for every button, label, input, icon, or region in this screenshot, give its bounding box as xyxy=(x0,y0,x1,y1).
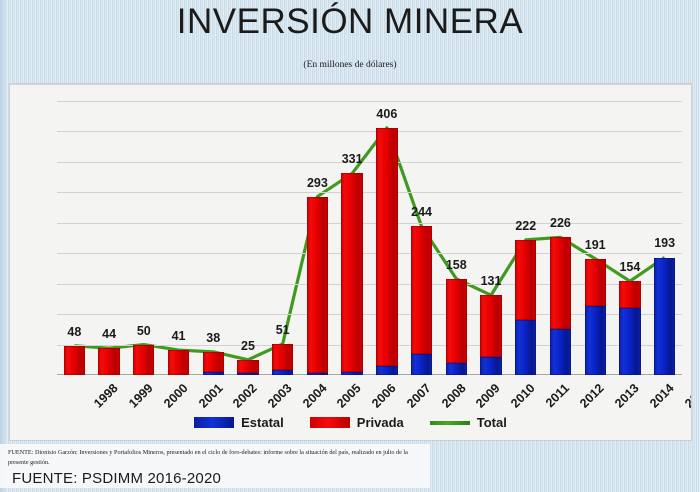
bar-segment-privada[interactable] xyxy=(168,350,189,375)
bar-segment-estatal[interactable] xyxy=(411,354,432,375)
left-edge-stripe xyxy=(0,0,7,492)
footnote-text: FUENTE: Dionisio Garzón: Inversiones y P… xyxy=(8,448,408,467)
bar-segment-privada[interactable] xyxy=(133,345,154,375)
page-subtitle: (En millones de dólares) xyxy=(0,60,700,70)
bar-segment-privada[interactable] xyxy=(480,295,501,356)
bar-2012[interactable] xyxy=(550,237,571,375)
data-label-2014: 154 xyxy=(608,260,652,274)
bar-segment-estatal[interactable] xyxy=(446,363,467,375)
source-label: FUENTE: PSDIMM 2016-2020 xyxy=(12,470,221,487)
x-axis-label-2013: 2013 xyxy=(612,381,642,411)
bar-segment-estatal[interactable] xyxy=(376,366,397,375)
bar-2004[interactable] xyxy=(272,344,293,375)
legend-line-icon xyxy=(430,421,470,425)
bar-segment-estatal[interactable] xyxy=(203,372,224,375)
x-axis-label-2015: 2015 xyxy=(682,381,691,411)
x-axis-label-2004: 2004 xyxy=(300,381,330,411)
data-label-2006: 331 xyxy=(330,152,374,166)
legend-swatch-icon xyxy=(194,417,234,428)
data-label-2013: 191 xyxy=(573,238,617,252)
data-label-2007: 406 xyxy=(365,107,409,121)
legend-label: Total xyxy=(477,415,507,430)
x-axis-label-2008: 2008 xyxy=(439,381,469,411)
bar-1998[interactable] xyxy=(64,346,85,375)
bar-2010[interactable] xyxy=(480,295,501,375)
legend-label: Estatal xyxy=(241,415,284,430)
gridline xyxy=(57,101,682,102)
bar-segment-privada[interactable] xyxy=(203,352,224,372)
legend-label: Privada xyxy=(357,415,404,430)
bar-segment-estatal[interactable] xyxy=(480,357,501,375)
bar-segment-privada[interactable] xyxy=(376,128,397,367)
legend-swatch-icon xyxy=(310,417,350,428)
bar-segment-estatal[interactable] xyxy=(272,370,293,375)
data-label-2010: 131 xyxy=(469,274,513,288)
bar-segment-privada[interactable] xyxy=(237,360,258,373)
gridline xyxy=(57,253,682,254)
bar-segment-estatal[interactable] xyxy=(550,329,571,375)
bar-2003[interactable] xyxy=(237,360,258,375)
data-label-2012: 226 xyxy=(538,216,582,230)
bar-segment-estatal[interactable] xyxy=(341,372,362,375)
bar-segment-privada[interactable] xyxy=(446,279,467,363)
bar-segment-privada[interactable] xyxy=(515,240,536,320)
legend-item-estatal[interactable]: Estatal xyxy=(194,415,284,430)
x-axis-label-1999: 1999 xyxy=(126,381,156,411)
bar-segment-privada[interactable] xyxy=(411,226,432,353)
x-axis-label-2007: 2007 xyxy=(404,381,434,411)
gridline xyxy=(57,223,682,224)
x-axis-label-1998: 1998 xyxy=(92,381,122,411)
bar-2011[interactable] xyxy=(515,240,536,375)
bar-2015[interactable] xyxy=(654,258,675,376)
x-axis-label-2006: 2006 xyxy=(369,381,399,411)
bar-2000[interactable] xyxy=(133,345,154,375)
x-axis-label-2011: 2011 xyxy=(543,381,572,410)
bar-2005[interactable] xyxy=(307,197,328,375)
data-label-2004: 51 xyxy=(261,323,305,337)
x-axis-label-2001: 2001 xyxy=(196,381,226,411)
bar-segment-privada[interactable] xyxy=(307,197,328,373)
bar-2013[interactable] xyxy=(585,259,606,375)
bar-segment-privada[interactable] xyxy=(98,348,119,375)
data-label-2015: 193 xyxy=(643,236,687,250)
x-axis-label-2010: 2010 xyxy=(508,381,538,411)
bar-2009[interactable] xyxy=(446,279,467,375)
page-title: INVERSIÓN MINERA xyxy=(0,2,700,42)
slide-canvas: INVERSIÓN MINERA (En millones de dólares… xyxy=(0,0,700,492)
x-axis-label-2005: 2005 xyxy=(335,381,365,411)
chart-legend: EstatalPrivadaTotal xyxy=(10,415,691,430)
bar-segment-estatal[interactable] xyxy=(307,373,328,375)
data-label-2008: 244 xyxy=(400,205,444,219)
x-axis-label-2012: 2012 xyxy=(578,381,608,411)
bar-segment-privada[interactable] xyxy=(272,344,293,370)
bar-segment-privada[interactable] xyxy=(550,237,571,329)
legend-item-total[interactable]: Total xyxy=(430,415,507,430)
bar-2002[interactable] xyxy=(203,352,224,375)
data-label-2009: 158 xyxy=(434,258,478,272)
bar-1999[interactable] xyxy=(98,348,119,375)
bar-segment-estatal[interactable] xyxy=(237,373,258,375)
x-axis-label-2009: 2009 xyxy=(473,381,503,411)
x-axis-label-2002: 2002 xyxy=(230,381,260,411)
bar-segment-privada[interactable] xyxy=(585,259,606,306)
legend-item-privada[interactable]: Privada xyxy=(310,415,404,430)
bar-segment-privada[interactable] xyxy=(619,281,640,308)
bar-segment-estatal[interactable] xyxy=(654,258,675,376)
bar-2006[interactable] xyxy=(341,173,362,375)
x-axis-label-2014: 2014 xyxy=(647,381,677,411)
bar-segment-estatal[interactable] xyxy=(515,320,536,375)
bar-2014[interactable] xyxy=(619,281,640,375)
bar-segment-privada[interactable] xyxy=(341,173,362,371)
bar-segment-estatal[interactable] xyxy=(619,308,640,375)
chart-panel: 050100150200250300350400450 481998441999… xyxy=(10,84,691,440)
bar-segment-estatal[interactable] xyxy=(585,306,606,375)
gridline xyxy=(57,192,682,193)
gridline xyxy=(57,131,682,132)
bar-2007[interactable] xyxy=(376,128,397,375)
bar-2001[interactable] xyxy=(168,350,189,375)
data-label-2003: 25 xyxy=(226,339,270,353)
plot-area: 4819984419995020004120013820022520035120… xyxy=(57,101,682,375)
bar-segment-privada[interactable] xyxy=(64,346,85,375)
data-label-2005: 293 xyxy=(295,176,339,190)
x-axis-label-2003: 2003 xyxy=(265,381,295,411)
x-axis-label-2000: 2000 xyxy=(161,381,191,411)
bar-2008[interactable] xyxy=(411,226,432,375)
